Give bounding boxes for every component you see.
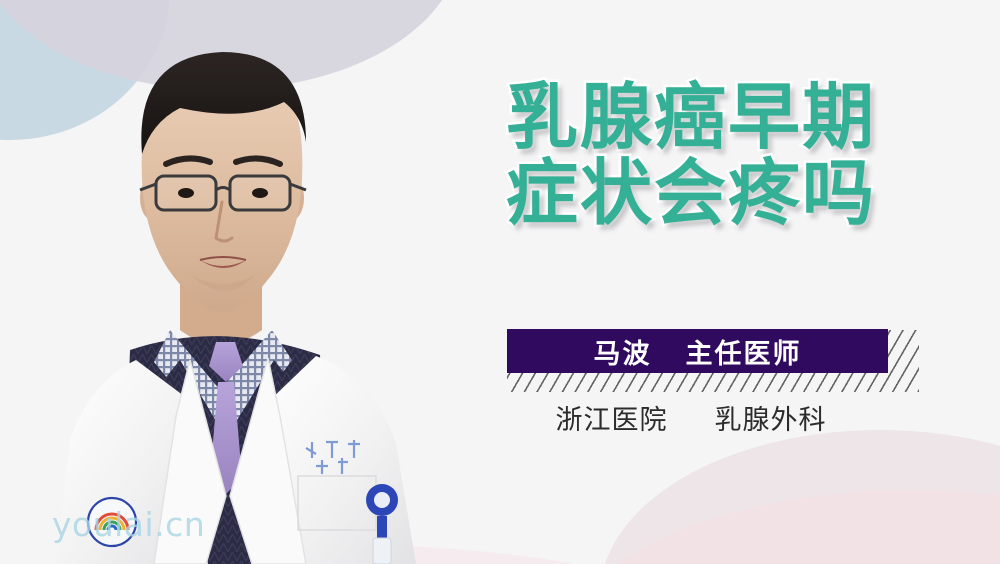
hospital-department-line: 浙江医院 乳腺外科 xyxy=(466,398,916,437)
nameplate: 马波 主任医师 xyxy=(500,322,920,392)
page-title: 乳腺癌早期 症状会疼吗 xyxy=(466,80,916,233)
title-line-2: 症状会疼吗 xyxy=(466,156,916,232)
hospital-name: 浙江医院 xyxy=(555,405,667,435)
site-watermark: youlai.cn xyxy=(52,505,205,544)
department-name: 乳腺外科 xyxy=(715,405,827,435)
poster-canvas: 乳腺癌早期 症状会疼吗 马波 主任医师 浙江医院 乳腺外科 youlai.cn xyxy=(0,0,1000,564)
doctor-portrait xyxy=(30,30,450,564)
doctor-name-bar: 马波 主任医师 xyxy=(507,329,888,373)
title-line-1: 乳腺癌早期 xyxy=(466,80,916,156)
doctor-name: 马波 xyxy=(594,332,652,371)
doctor-title: 主任医师 xyxy=(686,332,802,371)
